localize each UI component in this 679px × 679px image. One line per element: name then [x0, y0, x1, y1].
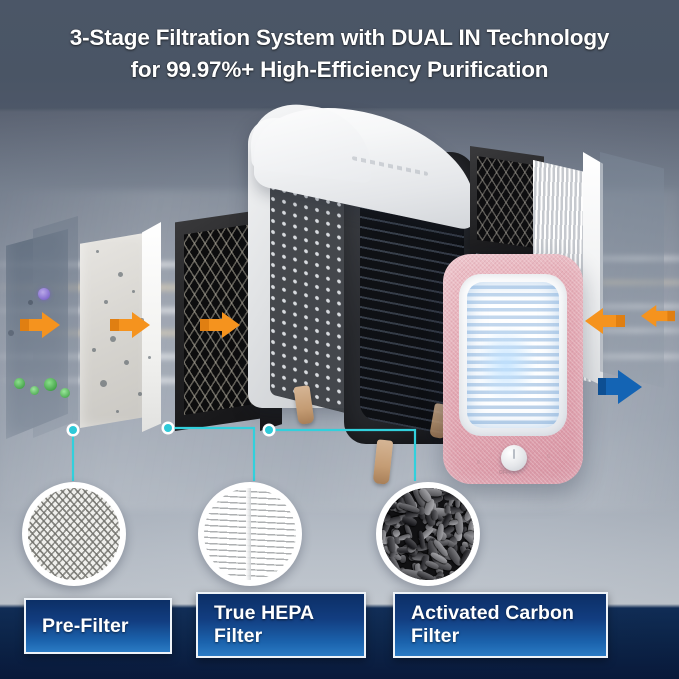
label-carbon: Activated CarbonFilter: [395, 602, 574, 648]
label-hepa-line2: Filter: [214, 625, 314, 648]
label-carbon-line2: Filter: [411, 625, 574, 648]
airflow-arrow-intake-3: [200, 310, 240, 340]
carbon-pellets-closeup: [382, 488, 474, 580]
title-line-2: for 99.97%+ High-Efficiency Purification: [0, 54, 679, 86]
label-box-carbon[interactable]: Activated CarbonFilter: [393, 592, 608, 658]
front-panel-glow: [475, 324, 537, 404]
label-hepa-line1: True HEPA: [214, 602, 314, 625]
airflow-arrow-dual-in-2: [641, 302, 675, 332]
detail-circle-pre-filter: [22, 482, 126, 586]
knob-off-label: OFF: [499, 470, 509, 476]
power-knob[interactable]: [501, 445, 527, 471]
airflow-arrow-clean-air-out: [596, 368, 640, 402]
product-infographic: 3-Stage Filtration System with DUAL IN T…: [0, 0, 679, 679]
detail-circle-hepa: [198, 482, 302, 586]
knob-scale-mark-left: 0: [477, 460, 480, 466]
pre-filter-mesh-closeup: [28, 488, 120, 580]
label-hepa: True HEPAFilter: [198, 602, 314, 648]
detail-circle-carbon: [376, 482, 480, 586]
page-title: 3-Stage Filtration System with DUAL IN T…: [0, 22, 679, 86]
airflow-arrow-intake-2: [110, 310, 150, 340]
label-box-hepa[interactable]: True HEPAFilter: [196, 592, 366, 658]
title-line-1: 3-Stage Filtration System with DUAL IN T…: [70, 25, 609, 50]
knob-scale-mark-right: 0: [547, 454, 550, 460]
label-pre-filter: Pre-Filter: [26, 615, 129, 638]
air-outlet-plate: [600, 152, 664, 388]
carbon-filter-right-honeycomb: [477, 156, 535, 248]
airflow-arrow-dual-in-1: [585, 306, 625, 336]
airflow-arrow-intake-1: [20, 310, 60, 340]
hepa-media-closeup: [204, 488, 296, 580]
front-panel-pink: OFF 0 0: [443, 254, 583, 484]
label-box-pre-filter[interactable]: Pre-Filter: [24, 598, 172, 654]
label-carbon-line1: Activated Carbon: [411, 602, 574, 625]
